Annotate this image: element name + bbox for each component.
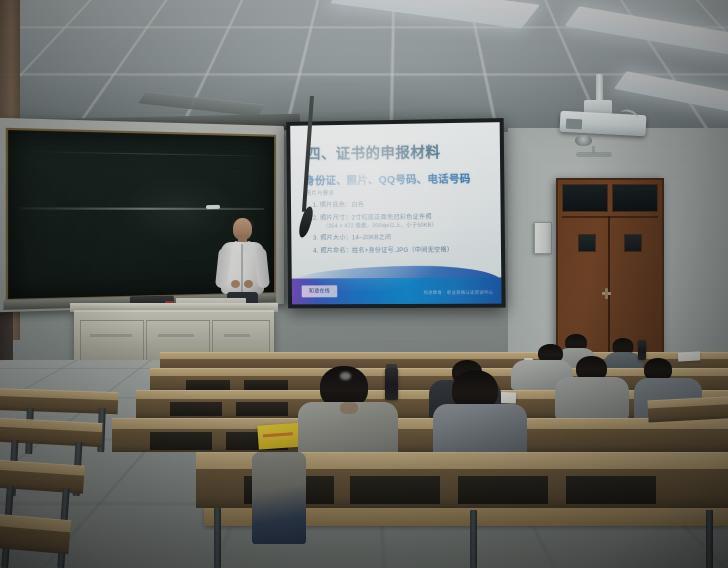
projector-lens xyxy=(575,135,592,146)
presenter-hand xyxy=(244,280,253,288)
slide-bullet-text: 1. 照片底色：白色 xyxy=(313,201,365,209)
slide-subtitle: 身份证、照片、QQ号码、电话号码 xyxy=(304,171,470,188)
student-front-left-lower xyxy=(252,452,306,544)
slide-title: 四、证书的申报材料 xyxy=(306,141,440,164)
door-transom-pane xyxy=(562,184,608,212)
podium-label xyxy=(158,334,194,337)
door-transom-windows xyxy=(562,184,658,212)
yellow-notebook-band xyxy=(263,432,293,438)
chalk-mark xyxy=(31,151,259,156)
hair-highlight xyxy=(340,372,351,380)
student-front-center xyxy=(436,370,524,458)
desk-right-row-a xyxy=(647,396,728,423)
door-window xyxy=(578,234,596,252)
student-neck-skin xyxy=(340,402,358,414)
slide-bullet-item: 4. 照片命名：姓名+身份证号.JPG（中间无空格） xyxy=(313,247,491,255)
door-handle-post xyxy=(605,288,608,299)
slide-footnote: 知途教育 · 职业资格认证培训中心 xyxy=(424,290,494,296)
slide-surface: 四、证书的申报材料 身份证、照片、QQ号码、电话号码 照片与要求 1. 照片底色… xyxy=(290,122,501,304)
presenter-hand xyxy=(231,280,240,288)
student-right-b xyxy=(556,356,628,416)
chalk-mark xyxy=(20,208,265,211)
ceiling-fan xyxy=(576,152,612,157)
projector-vent xyxy=(566,119,583,130)
wall-switch-box xyxy=(534,222,552,254)
black-thermos xyxy=(638,340,646,360)
slide-sublabel: 照片与要求 xyxy=(306,189,335,197)
slide-bullet-text: 3. 照片大小：14–20KB之间 xyxy=(313,234,391,242)
slide-bullet-item: 1. 照片底色：白色 xyxy=(313,201,491,209)
slide-logo: 知途在线 xyxy=(302,285,338,297)
desk-shelf xyxy=(170,402,222,416)
classroom-photo: 四、证书的申报材料 身份证、照片、QQ号码、电话号码 照片与要求 1. 照片底色… xyxy=(0,0,728,568)
chalk-piece xyxy=(206,205,220,209)
slide-bullet-subtext: （354 × 472 像素，300dpi以上，小于50KB） xyxy=(323,223,491,230)
desk-shelf xyxy=(350,476,440,504)
desk-leg xyxy=(214,508,221,568)
door-transom-pane xyxy=(612,184,658,212)
door-window xyxy=(624,234,642,252)
door-rail xyxy=(562,216,658,218)
presenter-shirt-placket xyxy=(241,244,243,292)
projection-screen: 四、证书的申报材料 身份证、照片、QQ号码、电话号码 照片与要求 1. 照片底色… xyxy=(286,118,505,308)
podium-label xyxy=(90,334,132,337)
slide-bullet-text: 2. 照片尺寸：2寸红底正面免冠彩色证件照 xyxy=(313,213,432,221)
slide-bullet-item: 2. 照片尺寸：2寸红底正面免冠彩色证件照 （354 × 472 像素，300d… xyxy=(313,214,491,230)
desk-shelf xyxy=(236,402,288,416)
desk-shelf xyxy=(458,476,548,504)
desk-leg xyxy=(706,510,713,568)
podium-label xyxy=(224,334,250,337)
slide-bullet-text: 4. 照片命名：姓名+身份证号.JPG（中间无空格） xyxy=(313,246,453,254)
slide-bullet-item: 3. 照片大小：14–20KB之间 xyxy=(313,234,491,242)
desk-leg xyxy=(470,510,477,568)
student-jacket xyxy=(555,377,629,419)
desk-shelf xyxy=(566,476,656,504)
desk-shelf xyxy=(150,432,212,450)
slide-bullet-list: 1. 照片底色：白色 2. 照片尺寸：2寸红底正面免冠彩色证件照 （354 × … xyxy=(313,201,491,261)
